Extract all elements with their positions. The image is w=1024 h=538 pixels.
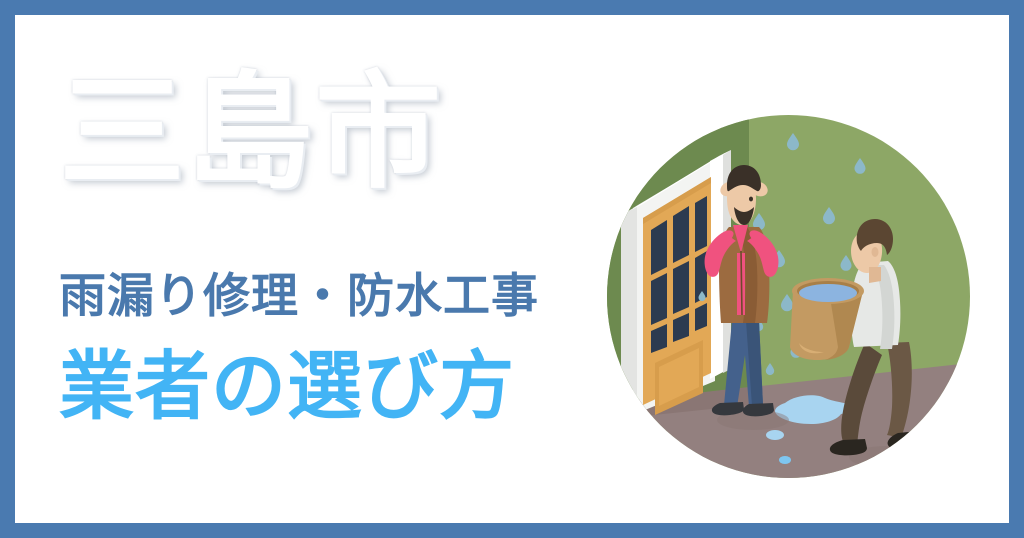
neck [869, 267, 881, 283]
door-pane [673, 206, 689, 263]
door-pane [673, 261, 689, 314]
eye [749, 197, 753, 202]
bucket-water [799, 284, 857, 302]
puddle-splash [824, 403, 836, 411]
banner-card: 三島市 雨漏り修理・防水工事 業者の選び方 [0, 0, 1024, 538]
ear [872, 247, 879, 257]
vest-button-line [741, 251, 742, 315]
banner-inner-panel: 三島市 雨漏り修理・防水工事 業者の選び方 [15, 15, 1009, 523]
city-title: 三島市 [59, 70, 443, 196]
main-headline: 業者の選び方 [59, 349, 515, 424]
door-pane [651, 273, 667, 325]
puddle-drop-tiny [779, 456, 791, 464]
puddle-drop-small [766, 430, 784, 440]
door-pane [695, 196, 707, 252]
roof-leak-illustration [607, 115, 970, 478]
text-block: 三島市 雨漏り修理・防水工事 業者の選び方 [15, 15, 635, 523]
door-group [621, 150, 731, 420]
door-jamb-side [621, 206, 637, 420]
service-subtitle: 雨漏り修理・防水工事 [59, 273, 539, 320]
